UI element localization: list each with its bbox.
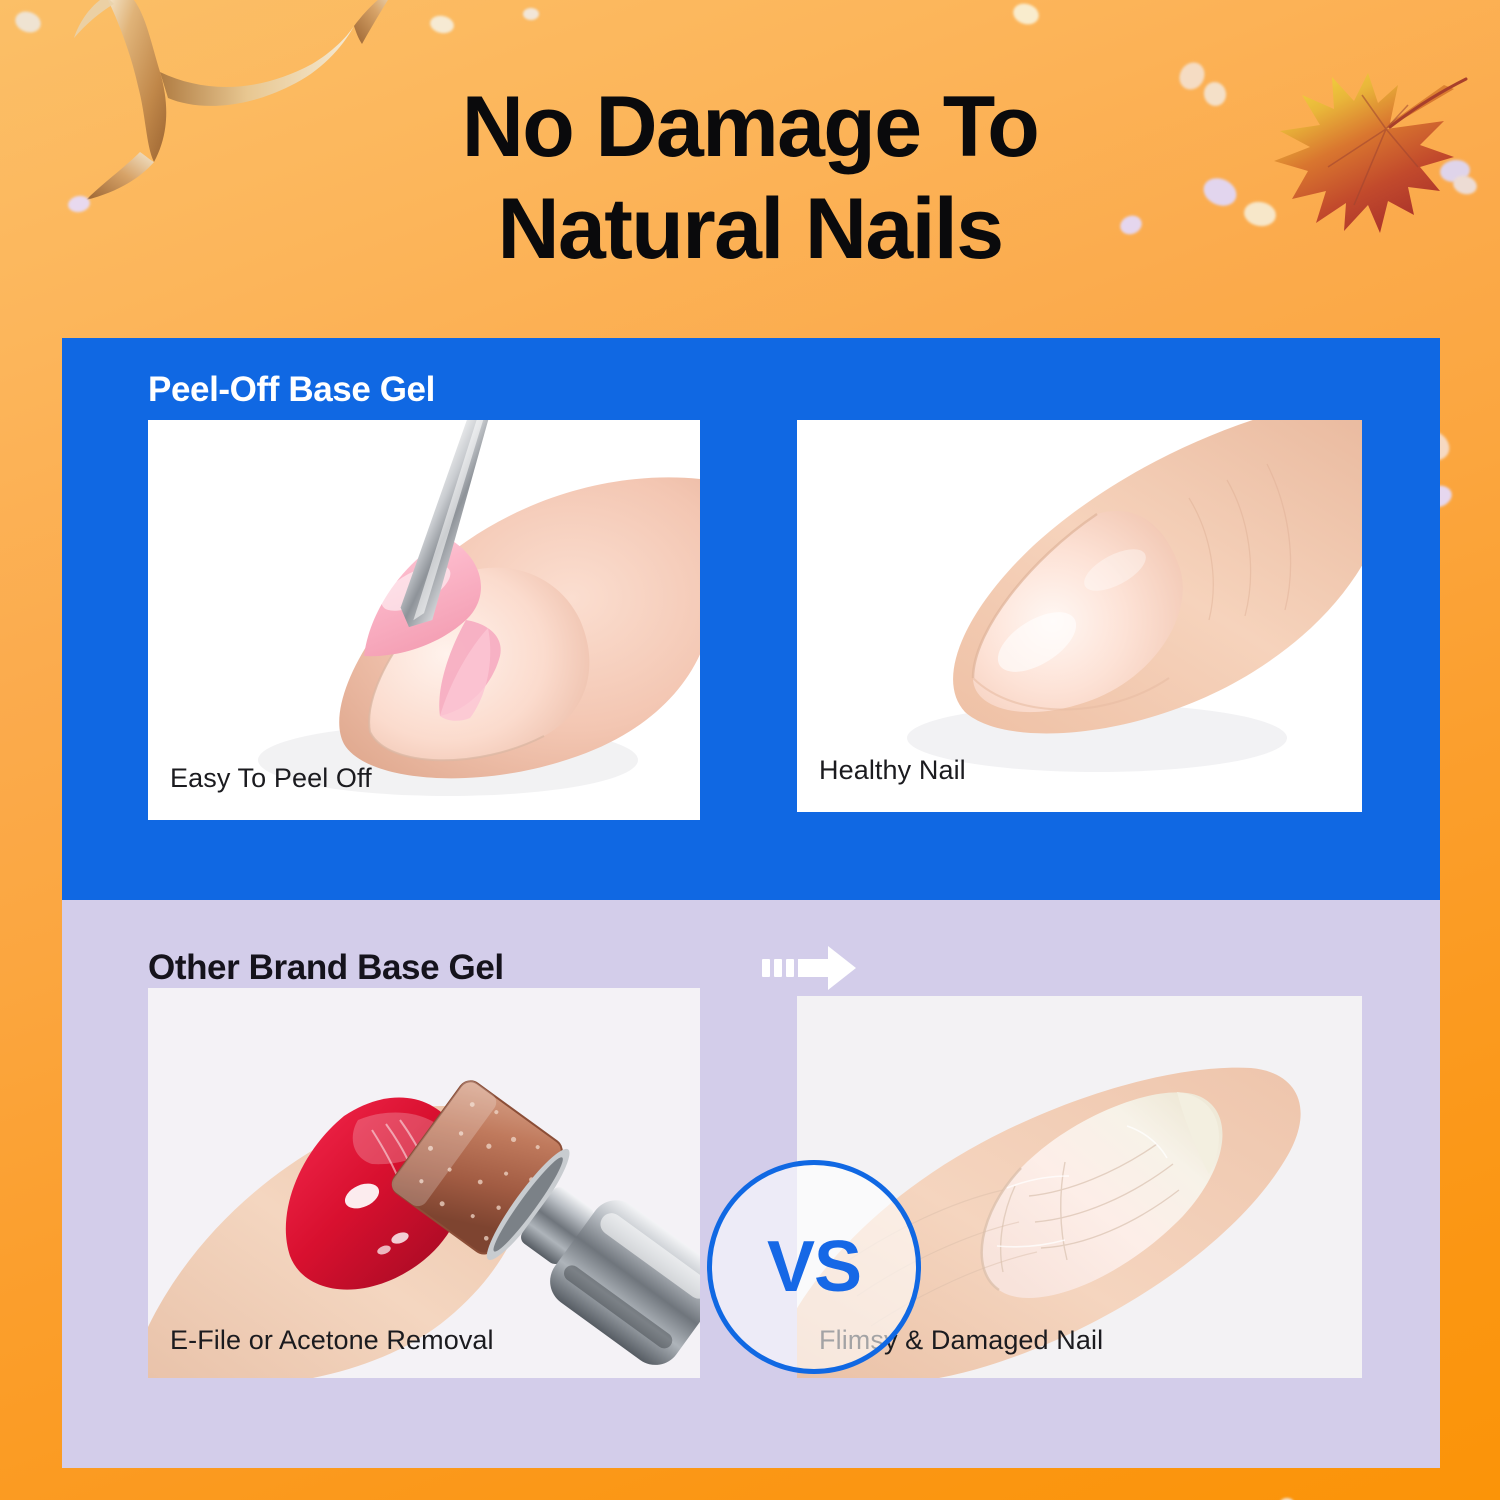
- section-title-peel-off: Peel-Off Base Gel: [148, 370, 435, 410]
- image-efile-removal: [148, 988, 700, 1378]
- confetti-dot-3: [523, 8, 539, 20]
- infographic-root: No Damage To Natural Nails Peel-Off Base…: [0, 0, 1500, 1500]
- vs-badge: VS: [707, 1160, 921, 1374]
- caption-healthy-nail: Healthy Nail: [819, 755, 966, 786]
- page-title: No Damage To Natural Nails: [0, 76, 1500, 281]
- photo-card-easy-to-peel-off: Easy To Peel Off: [148, 420, 700, 820]
- page-title-line-2: Natural Nails: [0, 178, 1500, 280]
- comparison-panel: Peel-Off Base Gel: [62, 338, 1440, 1468]
- confetti-dot-4: [1011, 0, 1042, 27]
- caption-easy-to-peel-off: Easy To Peel Off: [170, 763, 372, 794]
- image-healthy-nail: [797, 420, 1362, 812]
- page-title-line-1: No Damage To: [0, 76, 1500, 178]
- section-title-other-brand: Other Brand Base Gel: [148, 948, 504, 988]
- comparison-section-peel-off: Peel-Off Base Gel: [62, 338, 1440, 900]
- confetti-dot-2: [428, 14, 455, 36]
- arrow-right-icon-top: [762, 940, 858, 996]
- photo-card-healthy-nail: Healthy Nail: [797, 420, 1362, 812]
- confetti-dot-0: [12, 8, 43, 36]
- caption-efile-removal: E-File or Acetone Removal: [170, 1325, 494, 1356]
- vs-badge-label: VS: [767, 1231, 861, 1303]
- image-easy-to-peel-off: [148, 420, 700, 820]
- photo-card-efile-removal: E-File or Acetone Removal: [148, 988, 700, 1378]
